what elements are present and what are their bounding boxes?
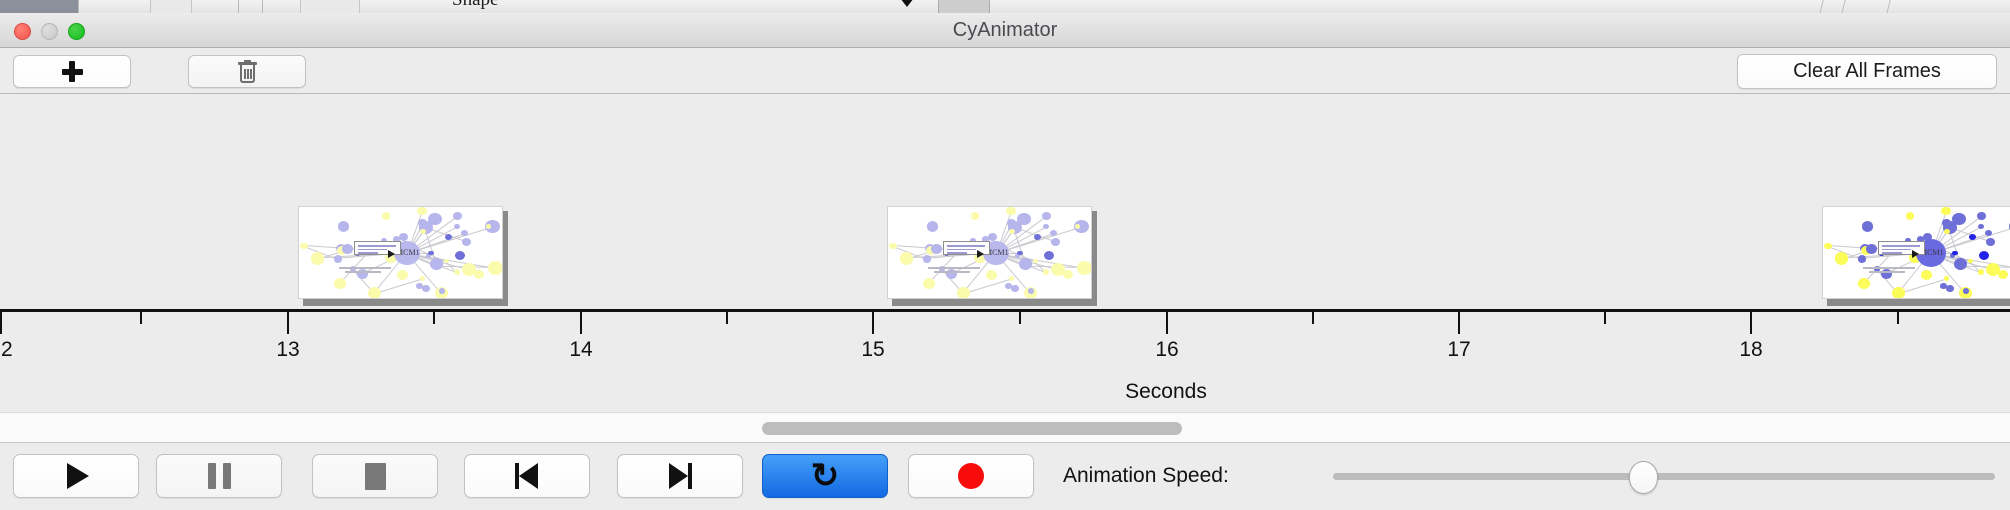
clear-all-frames-label: Clear All Frames (1793, 60, 1941, 83)
background-window-strip: Shape (0, 0, 2010, 13)
network-node (1946, 285, 1953, 291)
network-node (311, 252, 325, 264)
callout-pointer-icon (388, 250, 395, 258)
callout-pointer-icon (977, 250, 984, 258)
axis-tick-label: 17 (1447, 338, 1470, 362)
record-icon (958, 463, 984, 489)
network-caption-text (339, 267, 391, 269)
background-selected-tab (0, 0, 78, 13)
slider-thumb[interactable] (1629, 461, 1658, 494)
network-node (420, 276, 425, 281)
network-node (1954, 258, 1967, 270)
network-node (1011, 285, 1018, 291)
network-node (462, 263, 476, 276)
network-node (334, 255, 342, 262)
axis-tick (1166, 312, 1168, 334)
network-node (1043, 269, 1049, 275)
network-node (397, 270, 408, 280)
network-node (420, 229, 426, 234)
network-node (454, 269, 460, 275)
axis-tick (287, 312, 289, 334)
axis-title-label: Seconds (1125, 380, 1207, 403)
network-node (1043, 224, 1049, 229)
network-node (1077, 261, 1092, 274)
network-node (439, 288, 445, 294)
network-node (889, 243, 897, 250)
keyframe-thumbnail[interactable]: MCM1 (298, 206, 503, 299)
network-caption-text (1863, 267, 1915, 269)
keyframe-thumbnail[interactable]: MCM1 (1822, 206, 2010, 299)
pause-button[interactable] (156, 454, 282, 498)
network-node (986, 270, 997, 280)
network-node (1979, 251, 1990, 261)
background-hatch (1815, 0, 1855, 13)
network-node (1941, 207, 1951, 216)
background-divider (238, 0, 239, 13)
slider-track[interactable] (1333, 473, 1995, 480)
network-node (1858, 255, 1866, 262)
network-node (1986, 238, 1995, 246)
trash-icon (238, 60, 257, 83)
frame-toolbar: Clear All Frames (0, 48, 2010, 94)
network-node (422, 285, 429, 291)
network-node (342, 244, 352, 253)
network-node (368, 287, 381, 299)
play-icon (67, 463, 89, 489)
callout-pointer-icon (1912, 250, 1919, 258)
network-node (931, 244, 941, 253)
axis-tick-label: 14 (569, 338, 592, 362)
keyframe-track[interactable]: MCM1MCM1MCM1 (0, 94, 2010, 309)
background-hatch (1880, 0, 1920, 13)
keyframe-3[interactable]: MCM1 (1822, 206, 2010, 303)
axis-tick (433, 312, 435, 324)
network-node (430, 258, 443, 270)
network-caption-text (934, 271, 970, 273)
axis-tick (726, 312, 728, 324)
previous-frame-button[interactable] (464, 454, 590, 498)
next-frame-button[interactable] (617, 454, 743, 498)
skip-forward-icon (668, 463, 692, 489)
window-title: CyAnimator (0, 13, 2010, 48)
background-divider (262, 0, 263, 13)
network-node (1921, 270, 1932, 280)
network-node (1051, 263, 1065, 276)
network-node (1978, 224, 1984, 229)
network-node (334, 278, 346, 288)
network-caption-text (345, 271, 381, 273)
timeline-scrollbar[interactable] (0, 412, 2010, 442)
axis-tick (140, 312, 142, 324)
background-shape-label: Shape (452, 0, 498, 13)
axis-tick-label: 18 (1739, 338, 1762, 362)
clear-all-frames-button[interactable]: Clear All Frames (1737, 54, 1997, 89)
network-node (1986, 263, 2000, 276)
network-node (1963, 288, 1969, 294)
axis-tick (1750, 312, 1752, 334)
network-node (1019, 258, 1032, 270)
network-node (1835, 252, 1849, 264)
axis-tick-label: 16 (1155, 338, 1178, 362)
network-node (1009, 276, 1014, 281)
network-node (453, 212, 462, 220)
keyframe-2[interactable]: MCM1 (887, 206, 1092, 303)
pause-icon (208, 463, 231, 489)
network-node (1906, 212, 1914, 219)
background-cell (150, 0, 192, 13)
network-node (1824, 243, 1832, 250)
background-caret-icon (900, 0, 914, 7)
network-node (1952, 251, 1957, 256)
network-node (1977, 212, 1986, 220)
network-node (1051, 238, 1060, 246)
axis-tick (1458, 312, 1460, 334)
network-caption-text (1869, 271, 1905, 273)
record-button[interactable] (908, 454, 1034, 498)
network-node (454, 224, 460, 229)
skip-back-icon (515, 463, 539, 489)
network-node (1009, 229, 1015, 234)
stop-button[interactable] (312, 454, 438, 498)
network-node (900, 252, 914, 264)
animation-speed-slider[interactable] (1333, 442, 1995, 510)
keyframe-thumbnail[interactable]: MCM1 (887, 206, 1092, 299)
timeline-axis (0, 309, 2010, 312)
axis-tick (0, 312, 2, 334)
network-node (455, 251, 466, 261)
network-node (1862, 221, 1874, 232)
axis-tick (1019, 312, 1021, 324)
network-node (338, 221, 350, 232)
axis-tick-label: 13 (276, 338, 299, 362)
scrollbar-thumb[interactable] (762, 422, 1182, 435)
network-node (462, 238, 471, 246)
network-node (1006, 207, 1016, 216)
network-node (300, 243, 308, 250)
network-node (1858, 278, 1870, 288)
network-node (1866, 244, 1876, 253)
network-node (486, 224, 491, 229)
keyframe-1[interactable]: MCM1 (298, 206, 503, 303)
loop-button[interactable]: ↻ (762, 454, 888, 498)
axis-tick (872, 312, 874, 334)
delete-frame-button[interactable] (188, 55, 306, 88)
network-node (1978, 269, 1984, 275)
axis-tick (1604, 312, 1606, 324)
network-node (923, 255, 931, 262)
axis-tick-label: 12 (0, 338, 13, 362)
background-cell (300, 0, 360, 13)
axis-title: Seconds (0, 380, 2010, 404)
network-node (1944, 229, 1950, 234)
network-node (1944, 276, 1949, 281)
network-node (957, 287, 970, 299)
axis-tick (1312, 312, 1314, 324)
animation-speed-label: Animation Speed: (1063, 442, 1229, 510)
network-node (1044, 251, 1055, 261)
axis-tick (580, 312, 582, 334)
axis-tick (1897, 312, 1899, 324)
window-titlebar: CyAnimator (0, 13, 2010, 48)
network-node (1017, 251, 1022, 256)
network-node (417, 207, 427, 216)
stop-icon (365, 463, 386, 490)
network-node (971, 212, 979, 219)
background-button (938, 0, 990, 13)
network-node (1892, 287, 1905, 299)
network-node (382, 212, 390, 219)
network-node (1042, 212, 1051, 220)
network-node (428, 251, 433, 256)
network-node (923, 278, 935, 288)
play-button[interactable] (13, 454, 139, 498)
network-node (1075, 224, 1080, 229)
network-node (488, 261, 503, 274)
background-divider (78, 0, 79, 13)
loop-icon: ↻ (811, 459, 840, 493)
plus-icon (62, 61, 83, 82)
timeline-panel[interactable]: MCM1MCM1MCM1 12131415161718 Seconds (0, 94, 2010, 412)
axis-tick-label: 15 (861, 338, 884, 362)
network-node (927, 221, 939, 232)
network-node (1028, 288, 1034, 294)
add-frame-button[interactable] (13, 55, 131, 88)
network-caption-text (928, 267, 980, 269)
